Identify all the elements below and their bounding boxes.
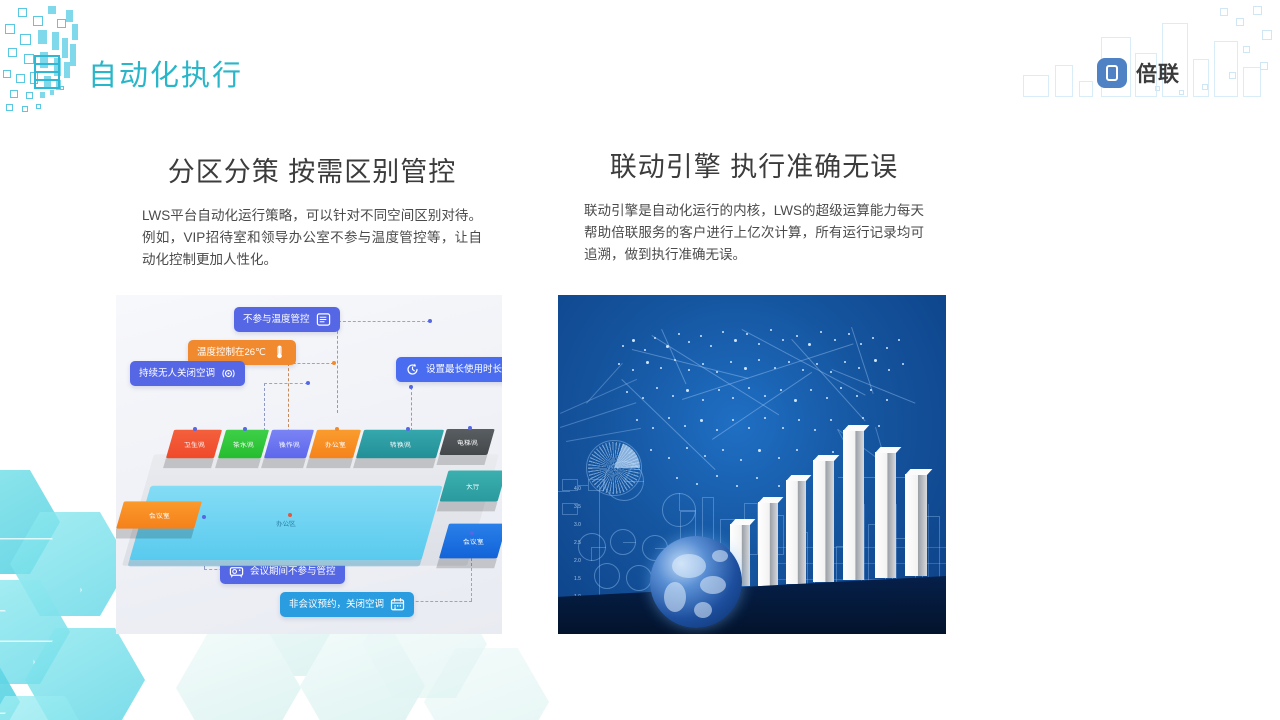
panel-icon — [316, 312, 331, 327]
room-meeting-b[interactable]: 会议室 — [439, 524, 502, 559]
callout-unattended-off[interactable]: 持续无人关闭空调 — [130, 361, 245, 386]
callout-label: 不参与温度管控 — [243, 315, 310, 325]
sensor-icon — [221, 366, 236, 381]
room-office[interactable]: 办公室 — [309, 430, 361, 459]
leader-line-3 — [264, 383, 308, 384]
room-pantry[interactable]: 茶水间 — [218, 430, 269, 459]
room-restroom[interactable]: 卫生间 — [166, 430, 222, 459]
leader-line-4-v — [411, 387, 412, 431]
leader-dot-3 — [306, 381, 310, 385]
room-pin-elevator — [468, 426, 472, 430]
room-pin-transfer — [406, 427, 410, 431]
room-pin-meeting-b — [470, 531, 474, 535]
callout-label: 持续无人关闭空调 — [139, 369, 215, 379]
zoning-diagram: 不参与温度管控 温度控制在26℃ 持续无人关闭空调 设置最长使用时长 会议期间不… — [116, 295, 502, 634]
projector-icon — [229, 564, 244, 579]
thermometer-icon — [272, 345, 287, 360]
engine-illustration: 蓝色数据可视化背景：世界地图点阵网络、3D白色柱状图、地球仪与工程蓝图线稿 — [558, 295, 946, 634]
callout-no-booking-off[interactable]: 非会议预约，关闭空调 — [280, 592, 414, 617]
callout-label: 非会议预约，关闭空调 — [289, 600, 384, 610]
section-zoning: 分区分策 按需区别管控 LWS平台自动化运行策略，可以针对不同空间区别对待。例如… — [116, 150, 508, 271]
room-label: 会议室 — [462, 536, 485, 546]
room-label: 转换间 — [389, 439, 412, 449]
room-meeting-a[interactable]: 会议室 — [116, 501, 202, 528]
section-body-engine: 联动引擎是自动化运行的内核，LWS的超级运算能力每天帮助倍联服务的客户进行上亿次… — [558, 200, 950, 266]
section-engine: 联动引擎 执行准确无误 联动引擎是自动化运行的内核，LWS的超级运算能力每天帮助… — [558, 145, 950, 266]
calendar-icon — [390, 597, 405, 612]
callout-label: 温度控制在26℃ — [197, 348, 266, 358]
room-transfer[interactable]: 转换间 — [356, 430, 444, 459]
globe-graphic — [650, 536, 742, 628]
room-elevator[interactable]: 电梯间 — [439, 429, 494, 455]
zone-pin-work-area — [288, 513, 292, 517]
room-label: 电梯间 — [456, 437, 479, 447]
leader-line-3-v — [264, 383, 265, 431]
timer-icon — [405, 362, 420, 377]
leader-dot-1 — [428, 319, 432, 323]
room-label: 茶水间 — [232, 439, 255, 449]
room-pin-pantry — [243, 427, 247, 431]
callout-max-duration[interactable]: 设置最长使用时长 — [396, 357, 502, 382]
leader-dot-2 — [332, 361, 336, 365]
leader-line-2 — [288, 363, 334, 364]
section-title-zoning: 分区分策 按需区别管控 — [116, 150, 508, 189]
page-header: 自动化执行 倍联 — [0, 0, 1280, 118]
brand-mark-icon — [1097, 58, 1127, 88]
room-pin-restroom — [193, 427, 197, 431]
room-lobby[interactable]: 大厅 — [440, 471, 502, 502]
callout-label: 设置最长使用时长 — [426, 365, 502, 375]
zone-label: 办公区 — [275, 518, 296, 528]
callout-label: 会议期间不参与管控 — [250, 567, 336, 577]
brand-logo: 倍联 — [1097, 58, 1180, 88]
room-label: 会议室 — [148, 510, 171, 520]
room-label: 操作间 — [278, 439, 301, 449]
brand-name: 倍联 — [1136, 58, 1180, 88]
leader-line-6b — [406, 601, 472, 602]
room-label: 大厅 — [465, 481, 481, 491]
room-pin-office — [335, 427, 339, 431]
leader-dot-4 — [409, 385, 413, 389]
room-operation[interactable]: 操作间 — [264, 430, 314, 459]
room-label: 办公室 — [324, 439, 347, 449]
page-title: 自动化执行 — [88, 52, 243, 94]
room-pin-meeting-a — [202, 515, 206, 519]
section-title-engine: 联动引擎 执行准确无误 — [558, 145, 950, 184]
section-body-zoning: LWS平台自动化运行策略，可以针对不同空间区别对待。例如，VIP招待室和领导办公… — [116, 205, 508, 271]
callout-no-temp-control[interactable]: 不参与温度管控 — [234, 307, 340, 332]
leader-line-1-v — [337, 321, 338, 413]
room-label: 卫生间 — [183, 439, 206, 449]
